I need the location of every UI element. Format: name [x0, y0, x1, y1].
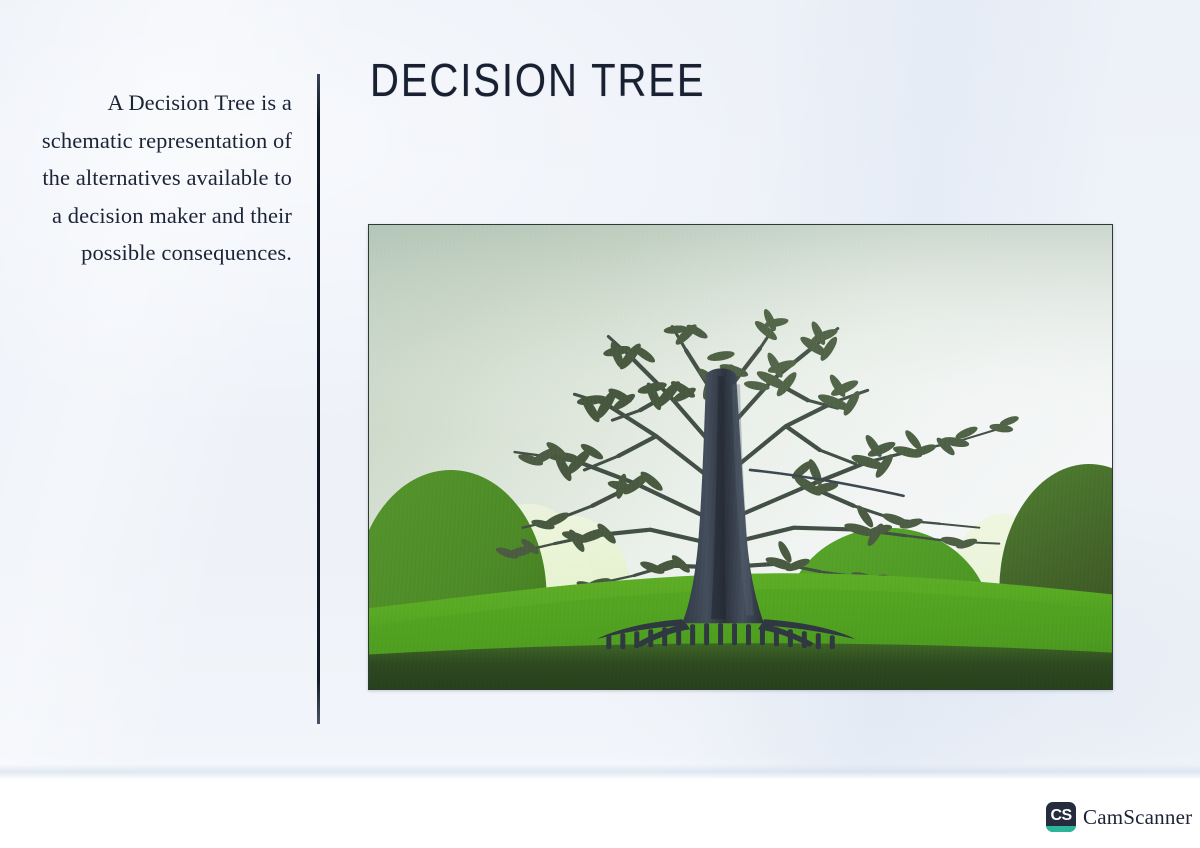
- slide-description-text: A Decision Tree is a schematic represent…: [40, 84, 292, 272]
- tree-illustration-artwork: [369, 225, 1112, 689]
- tree-illustration: [368, 224, 1113, 690]
- camscanner-badge-icon: CS: [1046, 802, 1076, 832]
- camscanner-wordmark: CamScanner: [1083, 805, 1192, 830]
- camscanner-badge-text: CS: [1050, 808, 1071, 824]
- slide-title: DECISION TREE: [370, 53, 705, 107]
- camscanner-watermark: CS CamScanner: [1046, 802, 1192, 832]
- camscanner-badge-accent: [1046, 826, 1076, 832]
- ground-dark-strip: [369, 643, 1112, 689]
- vertical-divider-rule: [317, 74, 320, 724]
